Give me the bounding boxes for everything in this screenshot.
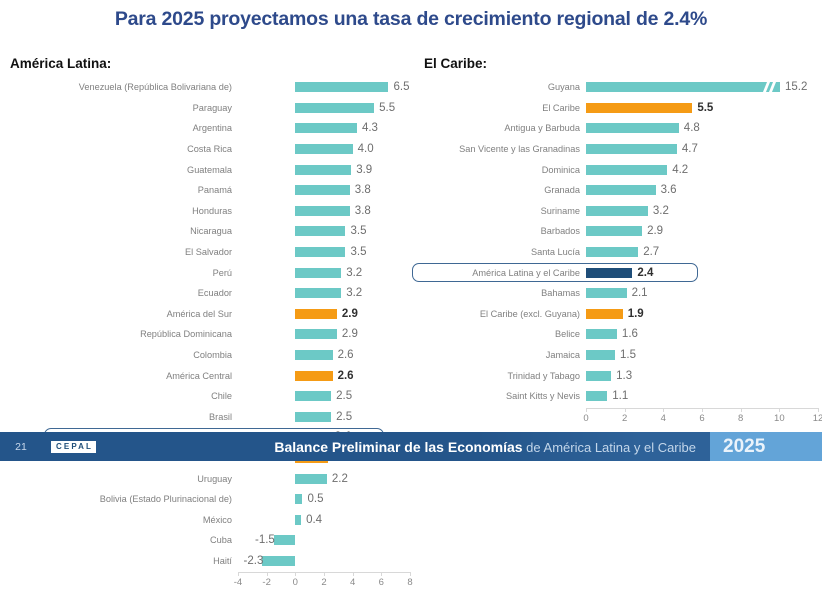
chart-title-el-caribe: El Caribe:: [420, 56, 822, 71]
bar-value-label: 1.3: [616, 370, 632, 382]
bar-category-label: Ecuador: [6, 288, 238, 298]
bar-value-label: 2.1: [632, 287, 648, 299]
bar: [295, 144, 352, 154]
bar-row: Dominica4.2: [420, 159, 822, 180]
bar: [586, 144, 677, 154]
chart-panel-el-caribe: El Caribe: Guyana15.2El Caribe5.5Antigua…: [420, 56, 822, 430]
bar-category-label: Saint Kitts y Nevis: [420, 391, 586, 401]
bar-category-label: Dominica: [420, 165, 586, 175]
bar-plot-area: 3.8: [238, 201, 416, 222]
bar-value-label: 1.6: [622, 328, 638, 340]
bar: [295, 474, 327, 484]
bar-row: El Salvador3.5: [6, 242, 416, 263]
bar-value-label: 3.5: [351, 246, 367, 258]
bar-plot-area: 1.1: [586, 386, 822, 407]
bar-row: México0.4: [6, 509, 416, 530]
bar: [295, 391, 331, 401]
bar-value-label: 5.5: [697, 102, 713, 114]
bar-category-label: Antigua y Barbuda: [420, 123, 586, 133]
page-title: Para 2025 proyectamos una tasa de crecim…: [0, 8, 822, 31]
bar: [295, 268, 341, 278]
bar-plot-area: 3.9: [238, 159, 416, 180]
bar-plot-area: 4.8: [586, 118, 822, 139]
bar-value-label: 1.1: [612, 390, 628, 402]
axis-tick-label: -2: [262, 577, 270, 588]
axis-tick: [295, 572, 296, 576]
bar: [586, 309, 623, 319]
bar-plot-area: 6.5: [238, 77, 416, 98]
bar-row: Suriname3.2: [420, 201, 822, 222]
bar: [586, 82, 780, 92]
bar-category-label: Venezuela (República Bolivariana de): [6, 82, 238, 92]
bar-category-label: Paraguay: [6, 103, 238, 113]
bar-row: Guyana15.2: [420, 77, 822, 98]
bar-value-label: 4.7: [682, 143, 698, 155]
axis-tick: [779, 408, 780, 412]
bar-value-label: 4.0: [358, 143, 374, 155]
footer-year: 2025: [710, 432, 822, 461]
bar: [586, 350, 615, 360]
bar-plot-area: 2.1: [586, 283, 822, 304]
bar-value-label: 2.9: [647, 225, 663, 237]
bar-value-label: 3.9: [356, 164, 372, 176]
bar-category-label: América Latina y el Caribe: [420, 268, 586, 278]
bar-row: América del Sur2.9: [6, 304, 416, 325]
chart-panel-america-latina: América Latina: Venezuela (República Bol…: [6, 56, 416, 594]
footer-title-bold: Balance Preliminar de las Economías: [274, 439, 522, 455]
bar-row: América Latina y el Caribe2.4: [420, 262, 822, 283]
bar-value-label: 5.5: [379, 102, 395, 114]
bar-category-label: Belice: [420, 329, 586, 339]
bar-value-label: -2.3: [244, 555, 264, 567]
bar-plot-area: 3.2: [238, 262, 416, 283]
bar-row: Panamá3.8: [6, 180, 416, 201]
bar-row: El Caribe5.5: [420, 98, 822, 119]
bar-row: Venezuela (República Bolivariana de)6.5: [6, 77, 416, 98]
bar-category-label: Suriname: [420, 206, 586, 216]
bar-value-label: 4.2: [672, 164, 688, 176]
bar-row: Colombia2.6: [6, 345, 416, 366]
bar: [586, 103, 692, 113]
bar-plot-area: 2.4: [586, 262, 822, 283]
bar: [586, 165, 667, 175]
bar: [586, 185, 656, 195]
bar-category-label: Haití: [6, 556, 238, 566]
bar-plot-area: 2.6: [238, 365, 416, 386]
bar-value-label: 3.2: [346, 287, 362, 299]
bar-category-label: Jamaica: [420, 350, 586, 360]
bar-plot-area: 1.5: [586, 345, 822, 366]
axis-tick: [381, 572, 382, 576]
bar-row: Bahamas2.1: [420, 283, 822, 304]
bar-category-label: Colombia: [6, 350, 238, 360]
bar-row: Honduras3.8: [6, 201, 416, 222]
chart-title-america-latina: América Latina:: [6, 56, 416, 71]
bar-plot-area: 3.8: [238, 180, 416, 201]
bar-plot-area: -1.5: [238, 530, 416, 551]
axis-tick: [238, 572, 239, 576]
bar-value-label: 3.6: [661, 184, 677, 196]
bar-plot-area: 4.7: [586, 139, 822, 160]
bar-row: República Dominicana2.9: [6, 324, 416, 345]
bar-plot-area: 2.5: [238, 386, 416, 407]
bar: [295, 123, 357, 133]
bar-category-label: Nicaragua: [6, 226, 238, 236]
bar: [295, 329, 337, 339]
bar-value-label: 3.8: [355, 184, 371, 196]
bar-plot-area: 3.2: [238, 283, 416, 304]
bar-plot-area: 4.3: [238, 118, 416, 139]
bar-category-label: Guyana: [420, 82, 586, 92]
bar-value-label: 2.9: [342, 328, 358, 340]
bar-plot-area: 3.2: [586, 201, 822, 222]
axis-tick: [267, 572, 268, 576]
bar: [586, 206, 648, 216]
bar-category-label: San Vicente y las Granadinas: [420, 144, 586, 154]
axis-tick-label: 8: [738, 413, 743, 424]
axis-tick-label: 2: [321, 577, 326, 588]
bar: [295, 494, 302, 504]
page-number: 21: [0, 441, 42, 453]
bar-category-label: El Caribe (excl. Guyana): [420, 309, 586, 319]
axis-tick: [625, 408, 626, 412]
footer-title: Balance Preliminar de las Economías de A…: [96, 439, 710, 455]
bar-value-label: 4.8: [684, 122, 700, 134]
bar: [586, 226, 642, 236]
bar-category-label: Brasil: [6, 412, 238, 422]
axis-tick-label: 4: [350, 577, 355, 588]
bar-plot-area: 2.9: [586, 221, 822, 242]
bar-category-label: Guatemala: [6, 165, 238, 175]
bar: [586, 268, 632, 278]
bar-row: Barbados2.9: [420, 221, 822, 242]
bar-row: El Caribe (excl. Guyana)1.9: [420, 304, 822, 325]
bar-category-label: América del Sur: [6, 309, 238, 319]
bar-plot-area: 0.5: [238, 489, 416, 510]
bar-value-label: 2.4: [637, 267, 653, 279]
bar-plot-area: 5.5: [238, 98, 416, 119]
bar-value-label: 2.6: [338, 349, 354, 361]
bar-category-label: El Salvador: [6, 247, 238, 257]
axis-tick-label: 12: [813, 413, 822, 424]
bar: [586, 123, 679, 133]
axis-tick: [586, 408, 587, 412]
bar-row: Brasil2.5: [6, 407, 416, 428]
bar-category-label: Honduras: [6, 206, 238, 216]
bar: [586, 371, 611, 381]
bar-plot-area: 1.9: [586, 304, 822, 325]
bar: [295, 288, 341, 298]
axis-tick-label: 6: [699, 413, 704, 424]
bar-category-label: Perú: [6, 268, 238, 278]
bar-plot-area: 3.5: [238, 221, 416, 242]
bar-value-label: 6.5: [394, 81, 410, 93]
x-axis-el-caribe: 024681012: [420, 408, 822, 430]
bar-row: Trinidad y Tabago1.3: [420, 365, 822, 386]
axis-tick: [324, 572, 325, 576]
bar-value-label: 2.2: [332, 473, 348, 485]
bar-category-label: Cuba: [6, 535, 238, 545]
axis-tick-label: 0: [583, 413, 588, 424]
bar: [295, 206, 349, 216]
bar-value-label: 3.2: [653, 205, 669, 217]
bar-plot-area: 3.5: [238, 242, 416, 263]
bar-row: Jamaica1.5: [420, 345, 822, 366]
bar: [586, 247, 638, 257]
bar: [295, 247, 345, 257]
axis-tick-label: -4: [234, 577, 242, 588]
bar-plot-area: 4.2: [586, 159, 822, 180]
axis-tick-label: 2: [622, 413, 627, 424]
bar-category-label: El Caribe: [420, 103, 586, 113]
bar: [295, 226, 345, 236]
axis-tick: [818, 408, 819, 412]
axis-tick-label: 8: [407, 577, 412, 588]
bar-value-label: 2.7: [643, 246, 659, 258]
bar-row: América Central2.6: [6, 365, 416, 386]
bar-category-label: Santa Lucía: [420, 247, 586, 257]
bar-value-label: 1.9: [628, 308, 644, 320]
bar-row: Cuba-1.5: [6, 530, 416, 551]
bar-category-label: América Central: [6, 371, 238, 381]
bar-category-label: República Dominicana: [6, 329, 238, 339]
bar-plot-area: 2.2: [238, 468, 416, 489]
axis-tick: [663, 408, 664, 412]
bar: [274, 535, 296, 545]
bar: [295, 412, 331, 422]
bar-plot-area: 2.6: [238, 345, 416, 366]
bar-plot-area: 15.2: [586, 77, 822, 98]
bar: [295, 82, 388, 92]
bar-category-label: Trinidad y Tabago: [420, 371, 586, 381]
bar-value-label: 3.2: [346, 267, 362, 279]
bar-plot-area: 2.9: [238, 324, 416, 345]
axis-tick-label: 4: [661, 413, 666, 424]
bar-row: Paraguay5.5: [6, 98, 416, 119]
bar: [295, 185, 349, 195]
bar-plot-area: 2.7: [586, 242, 822, 263]
bar-row: Costa Rica4.0: [6, 139, 416, 160]
axis-tick-label: 6: [379, 577, 384, 588]
bar-category-label: México: [6, 515, 238, 525]
bar-row: Guatemala3.9: [6, 159, 416, 180]
bar-plot-area: 1.3: [586, 365, 822, 386]
bar-row: Bolivia (Estado Plurinacional de)0.5: [6, 489, 416, 510]
bar-row: Uruguay2.2: [6, 468, 416, 489]
bar-plot-area: 2.5: [238, 407, 416, 428]
bar: [295, 350, 332, 360]
bar-value-label: 0.5: [308, 493, 324, 505]
axis-tick-label: 10: [774, 413, 785, 424]
bar-value-label: -1.5: [255, 534, 275, 546]
bar-row: Chile2.5: [6, 386, 416, 407]
bar: [295, 515, 301, 525]
bar-row: Santa Lucía2.7: [420, 242, 822, 263]
bar: [586, 288, 627, 298]
bar: [262, 556, 295, 566]
bar: [295, 371, 332, 381]
bar: [586, 329, 617, 339]
axis-tick: [741, 408, 742, 412]
bar-row: San Vicente y las Granadinas4.7: [420, 139, 822, 160]
bar-rows-america-latina: Venezuela (República Bolivariana de)6.5P…: [6, 77, 416, 571]
bar-row: Perú3.2: [6, 262, 416, 283]
axis-tick: [702, 408, 703, 412]
bar-value-label: 15.2: [785, 81, 807, 93]
bar-category-label: Uruguay: [6, 474, 238, 484]
footer-title-light: de América Latina y el Caribe: [523, 440, 696, 455]
bar-row: Nicaragua3.5: [6, 221, 416, 242]
footer-bar: 21 CEPAL Balance Preliminar de las Econo…: [0, 432, 822, 461]
bar-row: Belice1.6: [420, 324, 822, 345]
bar-value-label: 4.3: [362, 122, 378, 134]
bar: [586, 391, 607, 401]
bar-row: Saint Kitts y Nevis1.1: [420, 386, 822, 407]
bar-row: Granada3.6: [420, 180, 822, 201]
bar-value-label: 3.8: [355, 205, 371, 217]
bar-plot-area: 1.6: [586, 324, 822, 345]
bar-category-label: Costa Rica: [6, 144, 238, 154]
bar-plot-area: 5.5: [586, 98, 822, 119]
bar-plot-area: -2.3: [238, 551, 416, 572]
bar-value-label: 2.5: [336, 390, 352, 402]
bar-category-label: Chile: [6, 391, 238, 401]
bar-category-label: Bolivia (Estado Plurinacional de): [6, 494, 238, 504]
bar-plot-area: 2.9: [238, 304, 416, 325]
x-axis-america-latina: -4-202468: [6, 572, 416, 594]
bar-category-label: Granada: [420, 185, 586, 195]
bar-value-label: 3.5: [351, 225, 367, 237]
axis-tick: [410, 572, 411, 576]
bar-category-label: Barbados: [420, 226, 586, 236]
bar-plot-area: 4.0: [238, 139, 416, 160]
bar-rows-el-caribe: Guyana15.2El Caribe5.5Antigua y Barbuda4…: [420, 77, 822, 407]
bar-value-label: 2.6: [338, 370, 354, 382]
bar: [295, 165, 351, 175]
bar-plot-area: 3.6: [586, 180, 822, 201]
axis-tick: [353, 572, 354, 576]
bar-value-label: 0.4: [306, 514, 322, 526]
bar-plot-area: 0.4: [238, 509, 416, 530]
bar-row: Argentina4.3: [6, 118, 416, 139]
bar-category-label: Panamá: [6, 185, 238, 195]
bar-category-label: Argentina: [6, 123, 238, 133]
cepal-logo: CEPAL: [51, 441, 96, 453]
bar-row: Antigua y Barbuda4.8: [420, 118, 822, 139]
bar-row: Ecuador3.2: [6, 283, 416, 304]
bar-row: Haití-2.3: [6, 551, 416, 572]
bar: [295, 309, 337, 319]
bar: [295, 103, 374, 113]
bar-value-label: 2.9: [342, 308, 358, 320]
bar-value-label: 1.5: [620, 349, 636, 361]
bar-category-label: Bahamas: [420, 288, 586, 298]
axis-tick-label: 0: [293, 577, 298, 588]
bar-value-label: 2.5: [336, 411, 352, 423]
